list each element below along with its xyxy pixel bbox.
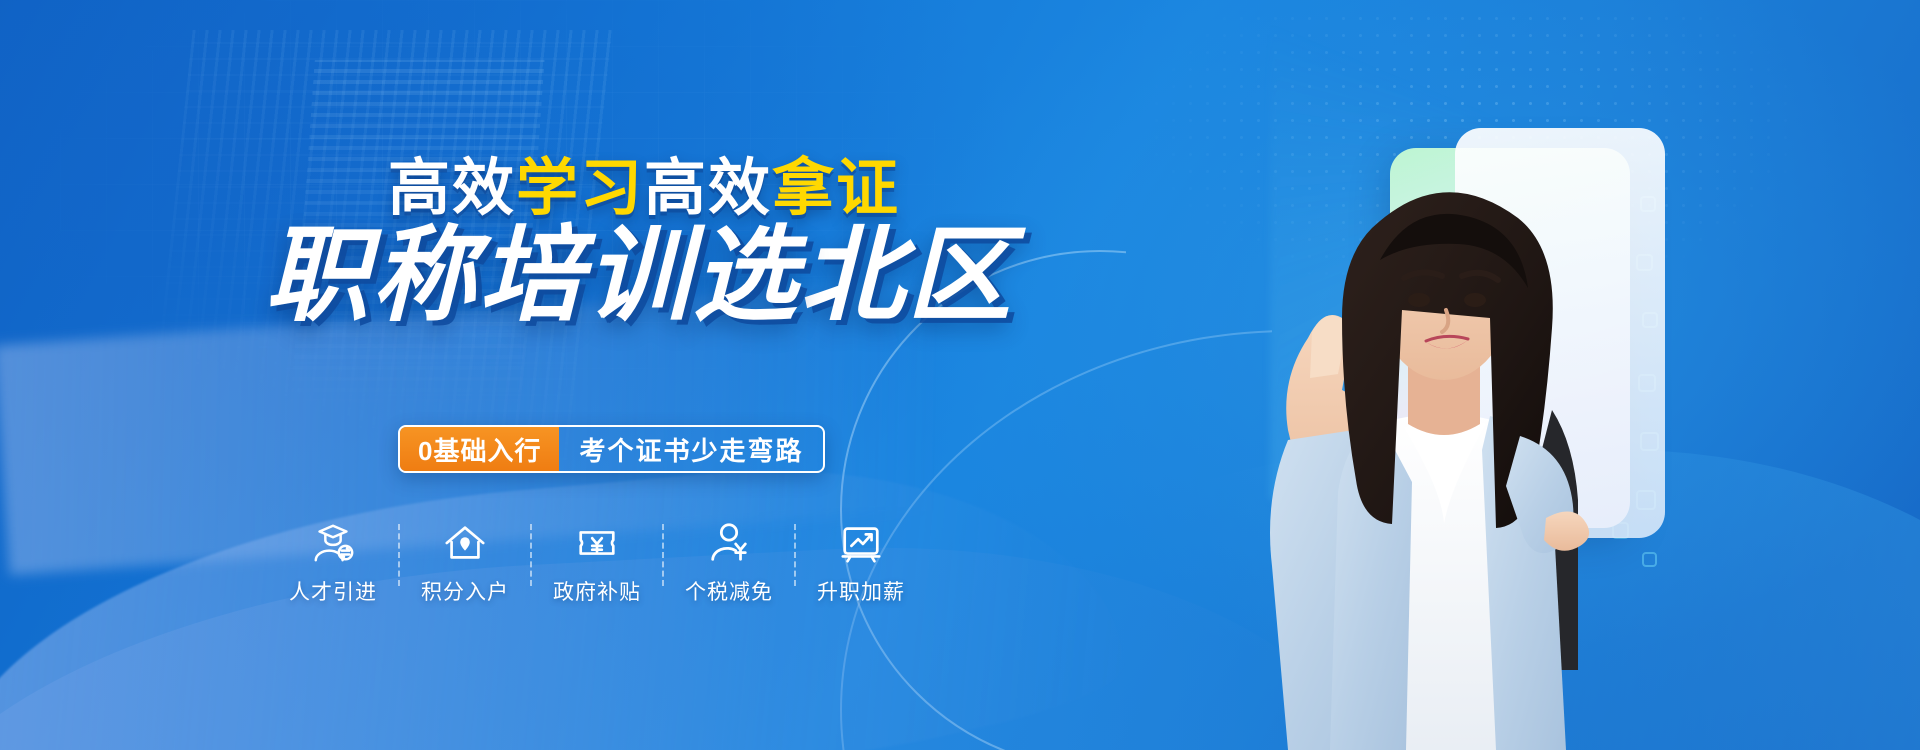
feature-item-tax[interactable]: 个税减免 [664,520,794,606]
feature-label: 个税减免 [685,576,773,606]
chart-board-icon [838,520,884,566]
feature-item-promotion[interactable]: 升职加薪 [796,520,926,606]
headline-line-2: 职称培训选北区 [265,222,1014,331]
person-yuan-icon [706,520,752,566]
headline-main-text: 职称培训选北区 [265,218,1014,334]
feature-item-talent[interactable]: 人才引进 [268,520,398,606]
subheadline-badge: 0基础入行 考个证书少走弯路 [398,425,825,473]
house-pin-icon [442,520,488,566]
badge-left-label: 0基础入行 [400,427,559,471]
graduate-person-icon [310,520,356,566]
badge-right-label: 考个证书少走弯路 [559,427,823,471]
headline-seg-2-highlight: 学习 [516,154,644,223]
banner-copy: 高效学习高效拿证 职称培训选北区 0基础入行 考个证书少走弯路 [0,0,1130,750]
feature-label: 政府补贴 [553,576,641,606]
ticket-yuan-icon [574,520,620,566]
headline-accent-mark: 选 [693,222,800,331]
feature-label: 积分入户 [421,576,509,606]
feature-list: 人才引进 积分入户 [268,520,926,606]
feature-item-hukou[interactable]: 积分入户 [400,520,530,606]
businesswoman-figure [1190,110,1710,750]
headline-seg-1: 高效 [388,154,516,223]
feature-label: 人才引进 [289,576,377,606]
feature-label: 升职加薪 [817,576,905,606]
headline-line-1: 高效学习高效拿证 [388,158,900,220]
headline-seg-4-highlight: 拿证 [772,154,900,223]
promo-banner: 高效学习高效拿证 职称培训选北区 0基础入行 考个证书少走弯路 [0,0,1920,750]
headline-seg-3: 高效 [644,154,772,223]
feature-item-subsidy[interactable]: 政府补贴 [532,520,662,606]
